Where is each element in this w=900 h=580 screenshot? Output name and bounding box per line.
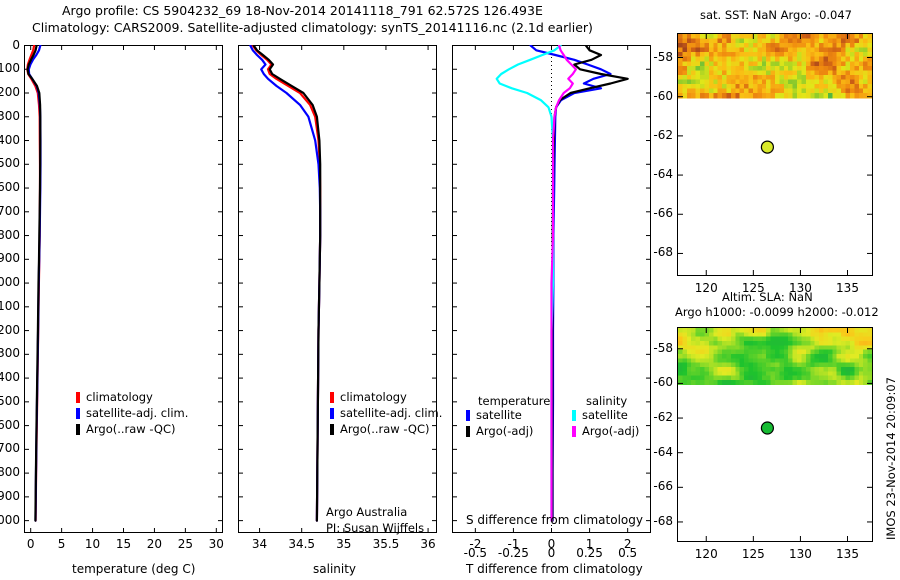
axis-tick-label: -62 <box>613 128 673 142</box>
axis-tick-label: 1100 <box>0 299 20 313</box>
page-title-line1: Argo profile: CS 5904232_69 18-Nov-2014 … <box>62 3 543 18</box>
axis-tick-label: 1400 <box>0 370 20 384</box>
axis-tick-label: -68 <box>613 245 673 259</box>
sla-map-title-line2: Argo h1000: -0.0099 h2000: -0.012 <box>675 305 879 319</box>
difference-legend-temperature: temperature satellite Argo(-adj) <box>466 394 550 440</box>
legend-swatch-argo <box>76 424 80 435</box>
credit-pi: PI: Susan Wijffels <box>326 521 424 535</box>
axis-tick-label: -60 <box>613 89 673 103</box>
legend-swatch-temp-argo <box>466 426 470 437</box>
legend-label-argo: Argo(..raw -QC) <box>340 422 430 436</box>
axis-tick-label: 800 <box>0 228 20 242</box>
legend-title-temperature: temperature <box>478 394 550 408</box>
axis-tick-label: 135 <box>818 281 878 295</box>
difference-bottom-axis-label: T difference from climatology <box>466 562 643 576</box>
axis-tick-label: 200 <box>0 85 20 99</box>
axis-tick-label: 1800 <box>0 465 20 479</box>
axis-tick-label: 1000 <box>0 275 20 289</box>
legend-label-climatology: climatology <box>340 390 407 404</box>
sst-map-title: sat. SST: NaN Argo: -0.047 <box>700 8 852 22</box>
axis-tick-label: 1900 <box>0 489 20 503</box>
legend-label-satellite-adj: satellite-adj. clim. <box>340 406 442 420</box>
axis-tick-label: 300 <box>0 109 20 123</box>
legend-label-satellite-adj: satellite-adj. clim. <box>86 406 188 420</box>
legend-title-salinity: salinity <box>586 394 627 408</box>
axis-tick-label: 0 <box>0 38 20 52</box>
difference-profile-curves <box>452 45 651 533</box>
axis-tick-label: -60 <box>613 375 673 389</box>
legend-label-sal-argo: Argo(-adj) <box>582 424 639 438</box>
axis-tick-label: 1500 <box>0 394 20 408</box>
axis-tick-label: -58 <box>613 50 673 64</box>
axis-tick-label: 500 <box>0 156 20 170</box>
axis-tick-label: 1600 <box>0 418 20 432</box>
axis-tick-label: 1200 <box>0 323 20 337</box>
salinity-profile-curves <box>238 45 437 533</box>
axis-tick-label: 1300 <box>0 346 20 360</box>
axis-tick-label: -58 <box>613 341 673 355</box>
axis-tick-label: 400 <box>0 133 20 147</box>
axis-tick-label: -64 <box>613 445 673 459</box>
salinity-x-axis-label: salinity <box>313 562 356 576</box>
temperature-profile-curves <box>24 45 223 533</box>
legend-swatch-satellite-adj <box>330 408 334 419</box>
axis-tick-label: 600 <box>0 180 20 194</box>
imos-timestamp-text: IMOS 23-Nov-2014 20:09:07 <box>884 377 898 540</box>
axis-tick-label: 700 <box>0 204 20 218</box>
legend-swatch-argo <box>330 424 334 435</box>
legend-swatch-satellite-adj <box>76 408 80 419</box>
axis-tick-label: -66 <box>613 206 673 220</box>
axis-tick-label: -62 <box>613 410 673 424</box>
axis-tick-label: -68 <box>613 514 673 528</box>
legend-label-temp-argo: Argo(-adj) <box>476 424 533 438</box>
legend-swatch-temp-satellite <box>466 410 470 421</box>
axis-tick-label: -64 <box>613 167 673 181</box>
legend-swatch-sal-argo <box>572 426 576 437</box>
axis-tick-label: 100 <box>0 61 20 75</box>
imos-timestamp: IMOS 23-Nov-2014 20:09:07 <box>884 540 900 554</box>
sla-map-title-line1: Altim. SLA: NaN <box>722 290 813 304</box>
legend-swatch-climatology <box>330 392 334 403</box>
credit-org: Argo Australia <box>326 505 424 519</box>
legend-swatch-climatology <box>76 392 80 403</box>
sst-map-raster <box>678 34 872 275</box>
axis-tick-label: 0.5 <box>598 546 658 560</box>
temperature-x-axis-label: temperature (deg C) <box>72 562 195 576</box>
credit-block: Argo Australia PI: Susan Wijffels <box>326 505 424 535</box>
axis-tick-label: 1700 <box>0 441 20 455</box>
legend-swatch-sal-satellite <box>572 410 576 421</box>
sla-map-raster <box>678 328 872 541</box>
legend-label-argo: Argo(..raw -QC) <box>86 422 176 436</box>
axis-tick-label: -66 <box>613 479 673 493</box>
axis-tick-label: 2000 <box>0 513 20 527</box>
axis-tick-label: 135 <box>818 547 878 561</box>
legend-label-temp-satellite: satellite <box>476 408 522 422</box>
page-title-line2: Climatology: CARS2009. Satellite-adjuste… <box>32 20 593 35</box>
axis-tick-label: 900 <box>0 251 20 265</box>
legend-label-climatology: climatology <box>86 390 153 404</box>
